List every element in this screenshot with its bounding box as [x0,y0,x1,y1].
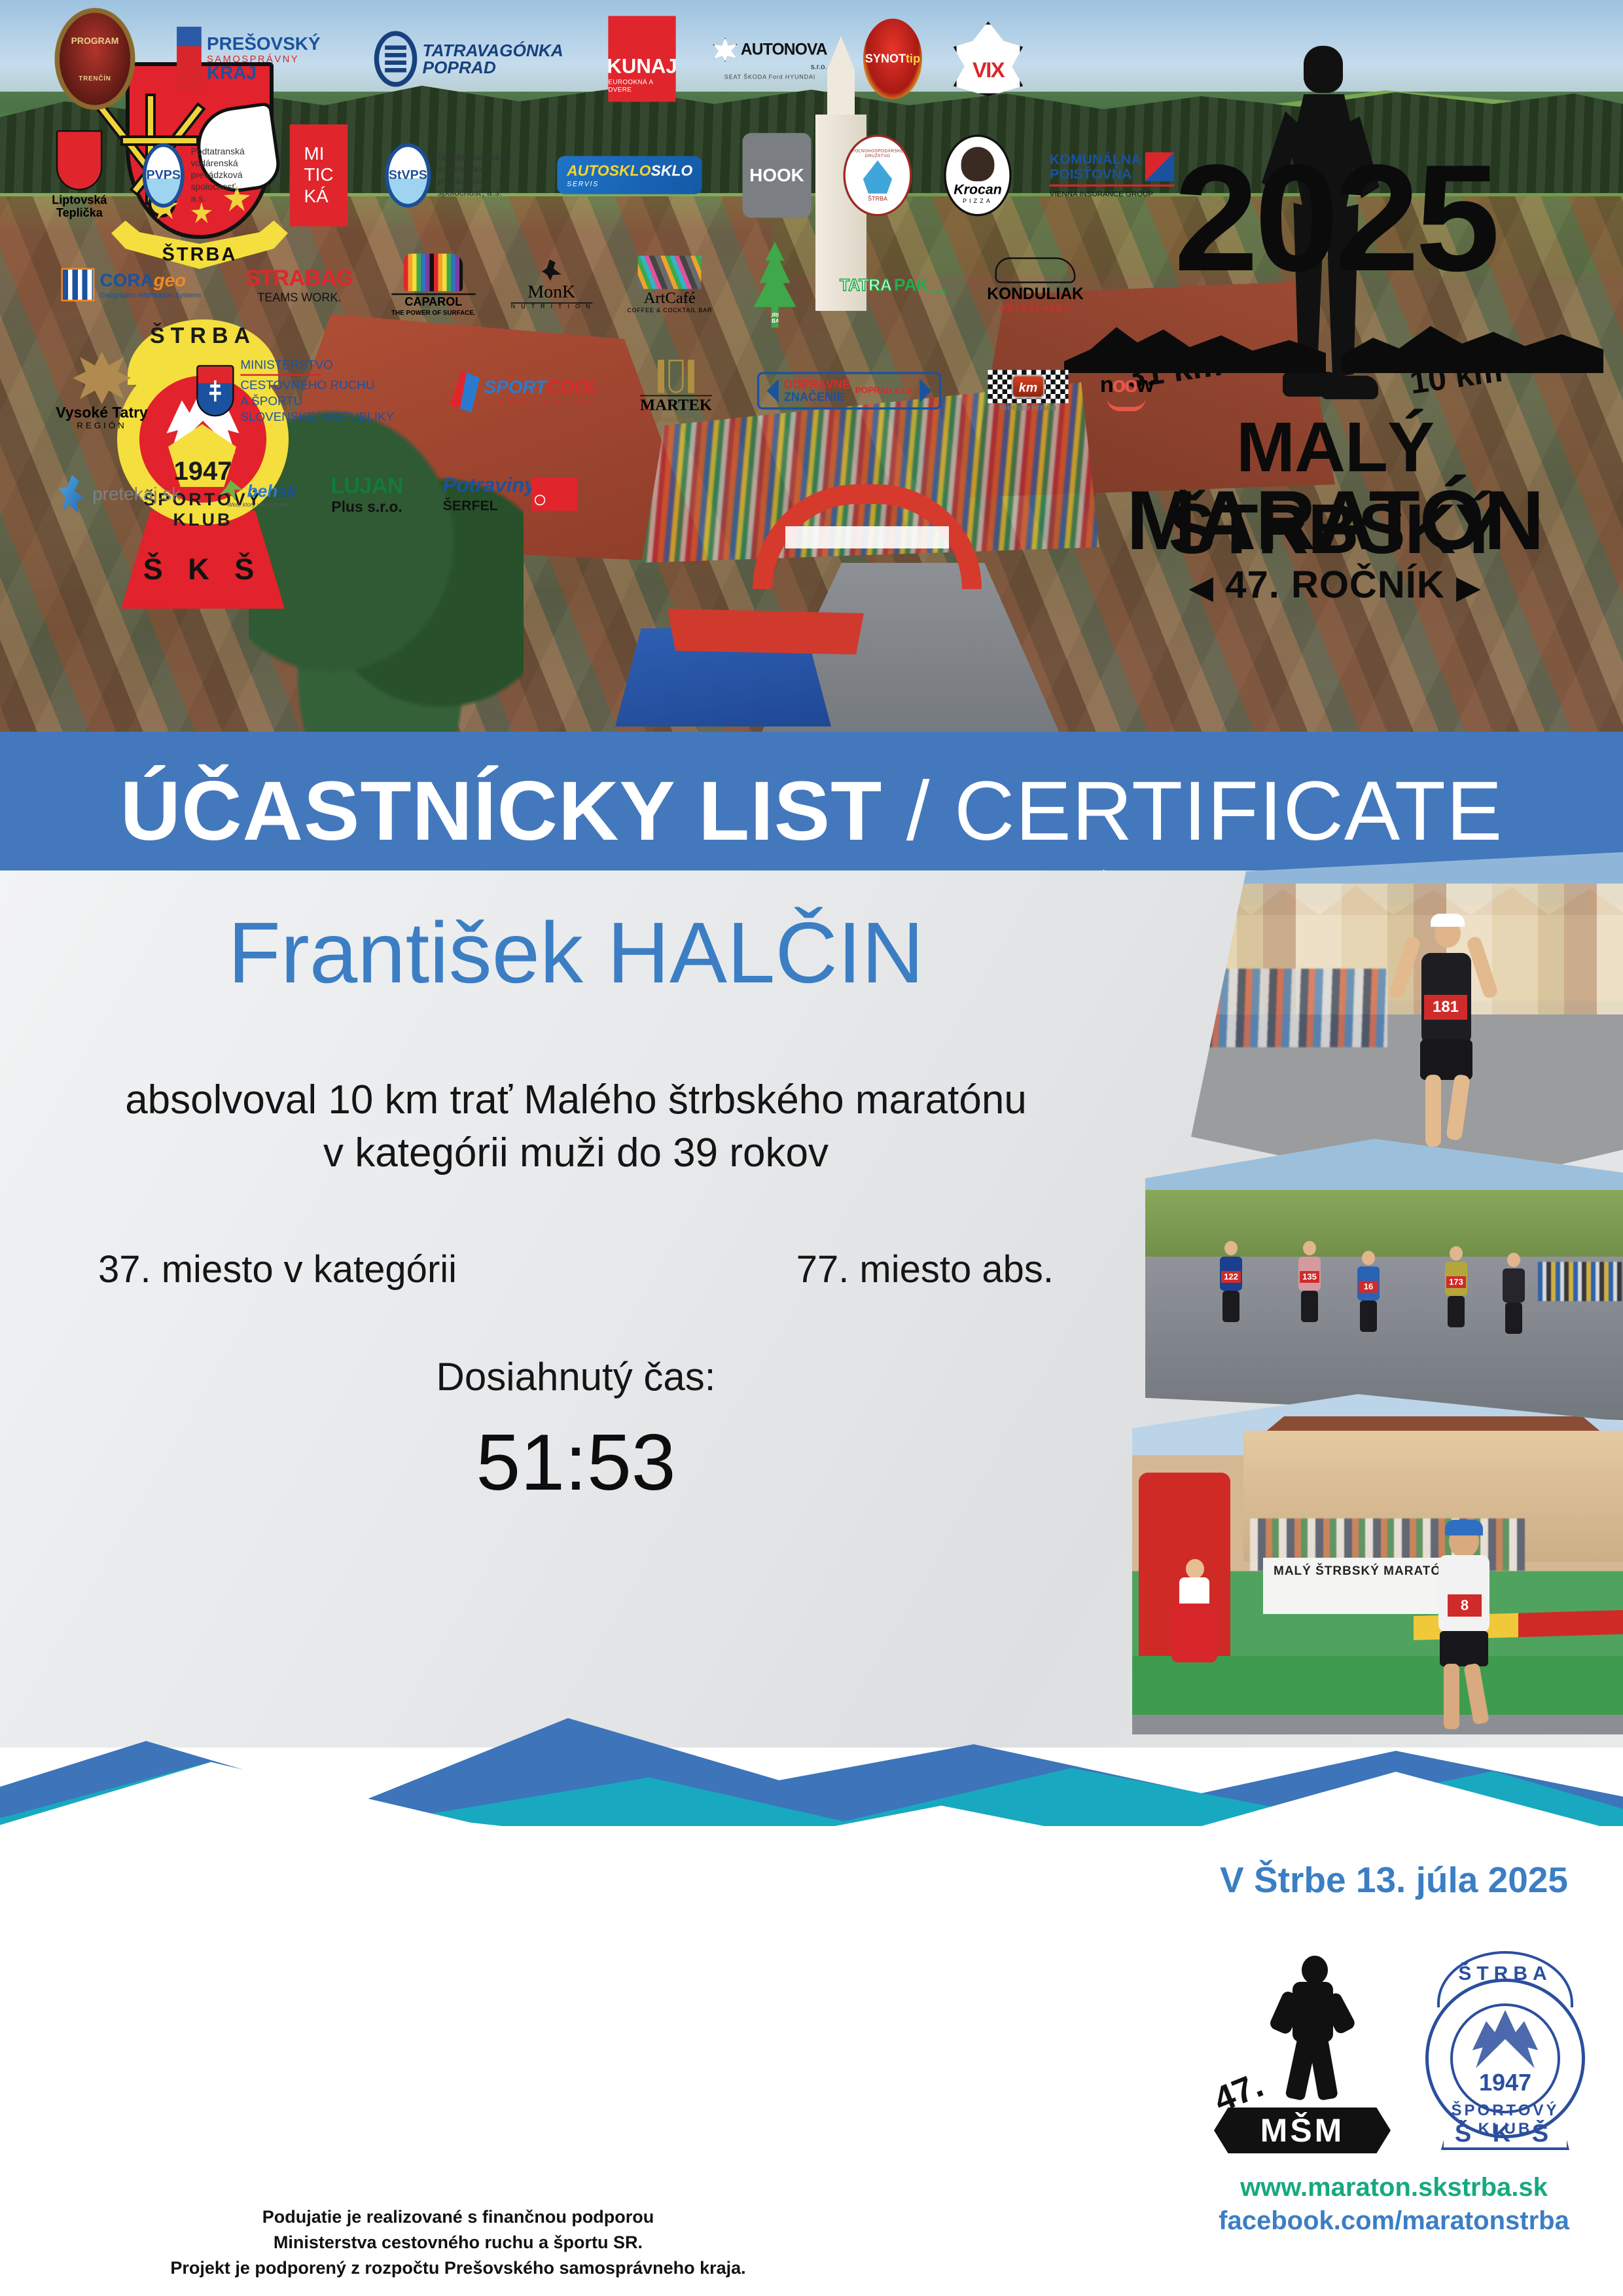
sponsor-logo-synottip: SYNOTtip [863,19,922,99]
sponsor-logo-konduliak-autosluzby: KONDULIAKAUTOSLUŽBY [987,257,1084,312]
sponsor-row: PROGRAMTRENČÍNPREŠOVSKÝSAMOSPRÁVNYKRAJTA… [46,0,1158,118]
msm-leg-right [1308,2037,1338,2101]
runner-head [1362,1251,1375,1265]
sponsor-logo-lujan-plus: LUJANPlus s.r.o. [330,473,403,516]
msm-emblem: 47. MŠM [1207,1950,1397,2147]
sponsor-logo-artcafe: ArtCaféCOFFEE & COCKTAIL BAR [627,256,712,314]
sponsor-logo-noow: noow [1099,371,1152,411]
sponsor-logo-komunalna-poistovna: KOMUNÁLNAPOISŤOVŇAVIENNA INSURANCE GROUP [1050,152,1175,198]
course-runner: 173 [1441,1242,1471,1327]
place-in-category: 37. miesto v kategórii [98,1247,457,1291]
sponsor-logo-monk-nutrition: MonKN U T R I T I O N [510,259,592,310]
event-edition-label: 47. ROČNÍK [1225,564,1445,606]
certificate-date: V Štrbe 13. júla 2025 [1178,1859,1610,1901]
finisher-shorts [1420,1039,1472,1080]
msm-runner-icon [1273,1956,1351,2100]
runner-bib-number: 173 [1446,1276,1466,1288]
sponsor-logo-program-trencin: PROGRAMTRENČÍN [55,8,135,110]
description-line-2: v kategórii muži do 39 rokov [0,1127,1152,1180]
course-runner [1499,1249,1529,1334]
footer-links: www.maraton.skstrba.sk facebook.com/mara… [1171,2173,1616,2236]
arrow-left-icon: ◀ [1190,569,1213,605]
msm-abbrev: MŠM [1214,2108,1391,2153]
course-runner: 16 [1353,1247,1383,1332]
sponsor-row: CORAgeoGeographic Information SystemsSTR… [46,232,1158,337]
funding-note: Podujatie je realizované s finančnou pod… [92,2204,825,2281]
finisher-leg-right [1446,1074,1471,1141]
runner-legs [1360,1300,1377,1332]
sponsor-logo-autosklo-servis: AUTOSKLOSKLOSERVIS [557,156,702,194]
winner-torso [1438,1555,1489,1632]
sponsor-logo-martek-restaurant: MARTEKRestaurant [640,359,712,423]
sponsor-logo-caparol: CAPAROLTHE POWER OF SURFACE. [391,253,475,316]
description-line-1: absolvoval 10 km trať Malého štrbského m… [0,1074,1152,1127]
event-edition: ◀47. ROČNÍK▶ [1060,563,1610,607]
sponsor-grid: PROGRAMTRENČÍNPREŠOVSKÝSAMOSPRÁVNYKRAJTA… [46,0,1158,543]
sponsor-logo-miticka: MITICKÁ [290,124,348,226]
msm-head [1302,1956,1328,1984]
runner-head [1304,46,1343,93]
sponsor-logo-km-motocentrum: kmmotocentrum [988,370,1068,412]
website-url[interactable]: www.maraton.skstrba.sk [1171,2173,1616,2202]
runner-head [1507,1253,1520,1267]
certificate-content: František HALČIN absolvoval 10 km trať M… [0,903,1152,1508]
sponsor-logo-ps-urbar-strba: PS URBÁRŠTRBA [745,242,804,327]
seal-arc-top-label: ŠTRBA [1437,1951,1573,2007]
girl-head [1186,1559,1204,1579]
girl-skirt [1171,1604,1217,1662]
winner-bib-number: 8 [1448,1594,1482,1617]
funding-note-line-2: Ministerstva cestovného ruchu a športu S… [92,2230,825,2255]
certificate-title: ÚČASTNÍCKY LIST / CERTIFICATE [0,763,1623,859]
finisher-figure: 181 [1387,897,1499,1158]
sponsor-row: pretekaj.skbehskWeb, ktorý vás rozhýbeLU… [46,445,1158,543]
sponsor-logo-corageo: CORAgeoGeographic Information Systems [62,268,202,302]
runner-shoe-right [1321,376,1378,399]
winner-shorts [1440,1631,1488,1666]
sponsor-logo-potraviny-serfel: PotravinyŠERFEL [443,475,578,514]
club-abbrev-label: Š K Š [121,552,285,586]
sponsor-logo-sportcool: SPORTCOOLS P O R T S W E A R [450,370,599,412]
sponsor-logo-liptovska-teplicka: LiptovskáTeplička [52,130,107,219]
runner-legs [1222,1291,1240,1322]
certificate-title-en: CERTIFICATE [954,764,1503,858]
placement-row: 37. miesto v kategórii 77. miesto abs. [0,1247,1152,1291]
certificate-description: absolvoval 10 km trať Malého štrbského m… [0,1074,1152,1179]
runner-legs [1448,1296,1465,1327]
facebook-url[interactable]: facebook.com/maratonstrba [1171,2206,1616,2236]
seal-year-label: 1947 [1450,2069,1560,2096]
finisher-arm-left [1389,935,1422,999]
photo-course: 122 135 16 173 [1145,1139,1623,1420]
sponsor-logo-ministerstvo-sr: MINISTERSTVOCESTOVNÉHO RUCHUA ŠPORTUSLOV… [196,357,394,425]
place-absolute: 77. miesto abs. [796,1247,1054,1291]
sponsor-logo-kunaj: KUNAJEUROOKNÁ A DVERE [608,16,675,101]
runner-pack [1538,1262,1622,1301]
sponsor-logo-stvps: StVPSStredoslovenská vodárenskáprevádzko… [385,143,510,207]
participant-name: František HALČIN [0,903,1152,1002]
club-seal-stamp: ŠTRBA 1947 ŠPORTOVÝ KLUB Š K Š [1414,1947,1597,2150]
runner-bib-number: 122 [1221,1271,1241,1283]
sponsor-logo-pvps: PVPSPodtatranská vodárenskáprevádzková s… [142,143,254,207]
sponsor-logo-hook: HOOK [742,133,811,218]
finisher-bib-number: 181 [1424,995,1467,1020]
funding-note-line-3: Projekt je podporený z rozpočtu Prešovsk… [92,2255,825,2281]
time-label: Dosiahnutý čas: [0,1354,1152,1399]
sponsor-logo-vysoke-tatry-region: Vysoké TatryREGIÓN [56,351,147,431]
winner-bandana [1445,1520,1483,1535]
course-runner: 135 [1294,1237,1325,1322]
runner-head [1303,1241,1316,1255]
sponsor-logo-autonova: AUTONOVAs.r.o.SEAT ŠKODA Ford HYUNDAI [713,37,827,81]
sponsor-logo-pretekaj-sk: pretekaj.sk [59,475,181,513]
runner-bib-number: 135 [1300,1271,1319,1283]
sponsor-logo-tatrapak: TATRAPAKs.r.o. [840,275,948,295]
time-value: 51:53 [0,1416,1152,1508]
funding-note-line-1: Podujatie je realizované s finančnou pod… [92,2204,825,2230]
sponsor-logo-presovsky-kraj: PREŠOVSKÝSAMOSPRÁVNYKRAJ [177,27,320,91]
seal-abbrev-label: Š K Š [1441,2120,1569,2150]
photo-finish-line: MALÝ ŠTRBSKÝ MARATÓN 8 [1132,1394,1623,1734]
runner-legs [1505,1302,1522,1334]
certificate-title-sk: ÚČASTNÍCKY LIST [120,764,883,858]
sponsor-logo-beh-sk: behskWeb, ktorý vás rozhýbe [219,480,296,509]
photo-spectators [1198,969,1387,1047]
photo-finisher: 181 [1191,851,1623,1191]
sponsor-logo-strabag: STRABAGTEAMS WORK. [245,265,353,305]
photo-montage: 181 122 135 16 173 [1113,851,1623,1767]
sponsor-logo-dopravne-znacenie-poprad: DOPRAVNÉZNAČENIEPOPRAD s.r.o. [757,372,942,410]
sponsor-logo-tatravagonka-poprad: TATRAVAGÓNKAPOPRAD [374,31,563,86]
sponsor-row: Vysoké TatryREGIÓNMINISTERSTVOCESTOVNÉHO… [46,337,1158,445]
certificate-title-separator: / [882,764,954,858]
runner-bib-number: 16 [1359,1281,1378,1293]
sponsor-logo-krocan-pizza: KrocanPIZZA [944,134,1011,216]
runner-head [1224,1241,1238,1255]
folk-costume-girl [1171,1558,1217,1682]
arrow-right-icon: ▶ [1457,569,1480,605]
sponsor-logo-vix: VIX [954,22,1024,97]
red-awning [668,609,864,655]
runner-head [1450,1246,1463,1261]
sponsor-logo-pd-strba: POĽNOHOSPODÁRSKE DRUŽSTVOŠTRBA [843,134,912,216]
finisher-leg-left [1425,1075,1441,1147]
runner-torso [1503,1268,1525,1302]
runner-legs [1301,1291,1318,1322]
finisher-visor [1431,914,1465,927]
course-runner: 122 [1216,1237,1246,1322]
sponsor-row: LiptovskáTepličkaPVPSPodtatranská vodáre… [46,118,1158,232]
